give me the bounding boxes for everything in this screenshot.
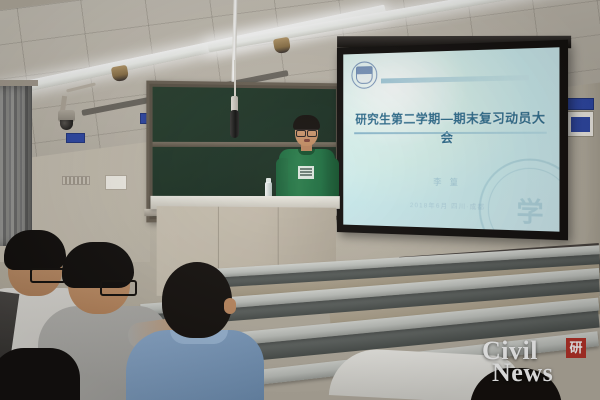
projector-equipment-sign-icon [566,111,594,137]
projection-screen: 研究生第二学期—期末复习动员大会 李 篁 2018年6月 四川·成都 学 [337,40,568,241]
sign-pictogram [571,117,590,132]
presenter-hair [293,115,320,130]
wall-sign-left [66,133,85,143]
civil-news-watermark: Civil News 研 [480,336,592,388]
eyeglasses-icon [30,268,66,283]
power-outlets [62,176,90,185]
slide-seal-watermark: 学 [479,158,560,231]
audience-ear [224,298,236,314]
eyeglasses-icon [100,280,137,296]
slide-accent-bar [381,75,529,83]
watermark-seal-icon: 研 [566,338,586,358]
presenter-mouth [304,139,310,142]
lecture-hall-photo: 研究生第二学期—期末复习动员大会 李 篁 2018年6月 四川·成都 学 [0,0,600,400]
window-curtain [0,86,32,246]
emblem-shield [356,66,373,84]
audience-hair [4,230,66,270]
watermark-line-2: News [492,358,553,388]
university-emblem-icon [351,61,377,89]
microphone-wire [234,60,236,98]
wall-notice [105,175,127,190]
slide-title: 研究生第二学期—期末复习动员大会 [351,107,551,146]
hanging-microphone-icon [230,110,239,138]
audience-head [162,262,232,338]
seal-inner-ring [488,167,560,231]
slide-surface: 研究生第二学期—期末复习动员大会 李 篁 2018年6月 四川·成都 学 [343,47,559,231]
audience-student-foreground [0,348,80,400]
presenter-arm-right [327,158,339,200]
wall-sign-right-text [566,98,594,110]
shirt-chest-print [298,166,314,179]
eyeglasses-icon [295,129,318,135]
